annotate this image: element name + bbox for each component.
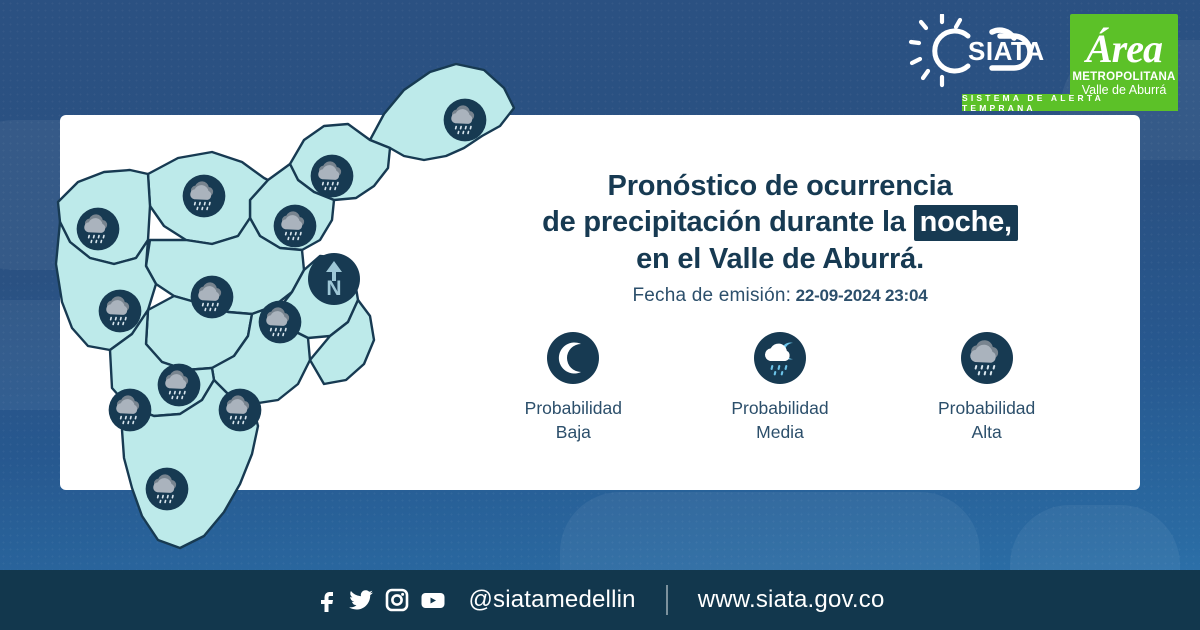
map-marker-barbosa[interactable]	[442, 97, 488, 143]
infographic-root: SIATA Área METROPOLITANA Valle de Aburrá…	[0, 0, 1200, 630]
headline-line-3: en el Valle de Aburrá.	[470, 241, 1090, 277]
website-url[interactable]: www.siata.gov.co	[698, 586, 885, 614]
map-marker-itagui[interactable]	[156, 362, 202, 408]
footer-content: @siatamedellin www.siata.gov.co	[315, 585, 884, 615]
legend-item-alta: Probabilidad Alta	[902, 330, 1072, 444]
map-marker-caldas[interactable]	[144, 466, 190, 512]
moon-icon	[545, 330, 601, 386]
compass-label: N	[326, 277, 341, 300]
map-marker-medellin[interactable]	[189, 274, 235, 320]
legend-label-line2: Baja	[556, 422, 591, 442]
footer-divider	[666, 585, 668, 615]
legend-label-line1: Probabilidad	[731, 398, 828, 418]
headline-highlight: noche,	[914, 205, 1018, 241]
siata-tagline-text: SISTEMA DE ALERTA TEMPRANA	[962, 93, 1178, 113]
cloud-heavy-rain-icon	[959, 330, 1015, 386]
map-marker-la-estrella[interactable]	[107, 387, 153, 433]
map-marker-bello[interactable]	[181, 173, 227, 219]
siata-logo-text: SIATA	[968, 36, 1045, 66]
headline-line-1: Pronóstico de ocurrencia	[470, 168, 1090, 204]
issue-date-value: 22-09-2024 23:04	[796, 286, 928, 305]
page-title: Pronóstico de ocurrencia de precipitació…	[470, 168, 1090, 277]
headline-line-2-text: de precipitación durante la	[542, 206, 914, 238]
youtube-icon[interactable]	[420, 588, 446, 612]
twitter-icon[interactable]	[348, 588, 374, 612]
legend-label-line1: Probabilidad	[525, 398, 622, 418]
siata-logo: SIATA	[908, 14, 1058, 92]
instagram-icon[interactable]	[385, 588, 409, 612]
legend-label-line2: Alta	[972, 422, 1002, 442]
legend-label-media: Probabilidad Media	[731, 397, 828, 444]
legend-label-baja: Probabilidad Baja	[525, 397, 622, 444]
social-handle[interactable]: @siatamedellin	[468, 586, 635, 614]
legend-label-line2: Media	[756, 422, 804, 442]
issue-date-label: Fecha de emisión:	[632, 285, 791, 306]
north-arrow-icon: N	[306, 251, 362, 307]
logo-group: SIATA Área METROPOLITANA Valle de Aburrá	[908, 14, 1178, 102]
area-logo-word: Área	[1086, 29, 1162, 69]
social-icons	[315, 588, 446, 612]
map-marker-girardota[interactable]	[309, 153, 355, 199]
map-marker-san-jeronimo[interactable]	[97, 288, 143, 334]
facebook-icon[interactable]	[315, 588, 337, 612]
map-marker-copacabana[interactable]	[272, 203, 318, 249]
area-metropolitana-logo: Área METROPOLITANA Valle de Aburrá	[1070, 14, 1178, 102]
map-marker-sabaneta[interactable]	[217, 387, 263, 433]
footer-bar: @siatamedellin www.siata.gov.co	[0, 570, 1200, 630]
legend-label-line1: Probabilidad	[938, 398, 1035, 418]
cloud-moon-rain-icon	[752, 330, 808, 386]
legend-item-media: Probabilidad Media	[695, 330, 865, 444]
issue-date: Fecha de emisión: 22-09-2024 23:04	[470, 285, 1090, 307]
siata-tagline-bar: SISTEMA DE ALERTA TEMPRANA	[962, 94, 1178, 111]
probability-legend: Probabilidad Baja	[470, 330, 1090, 444]
map-marker-san-pedro[interactable]	[75, 206, 121, 252]
map-marker-envigado[interactable]	[257, 299, 303, 345]
legend-label-alta: Probabilidad Alta	[938, 397, 1035, 444]
area-logo-line1: METROPOLITANA	[1072, 71, 1175, 83]
valle-de-aburra-map: N	[52, 44, 522, 564]
headline-line-2: de precipitación durante la noche,	[470, 204, 1090, 240]
